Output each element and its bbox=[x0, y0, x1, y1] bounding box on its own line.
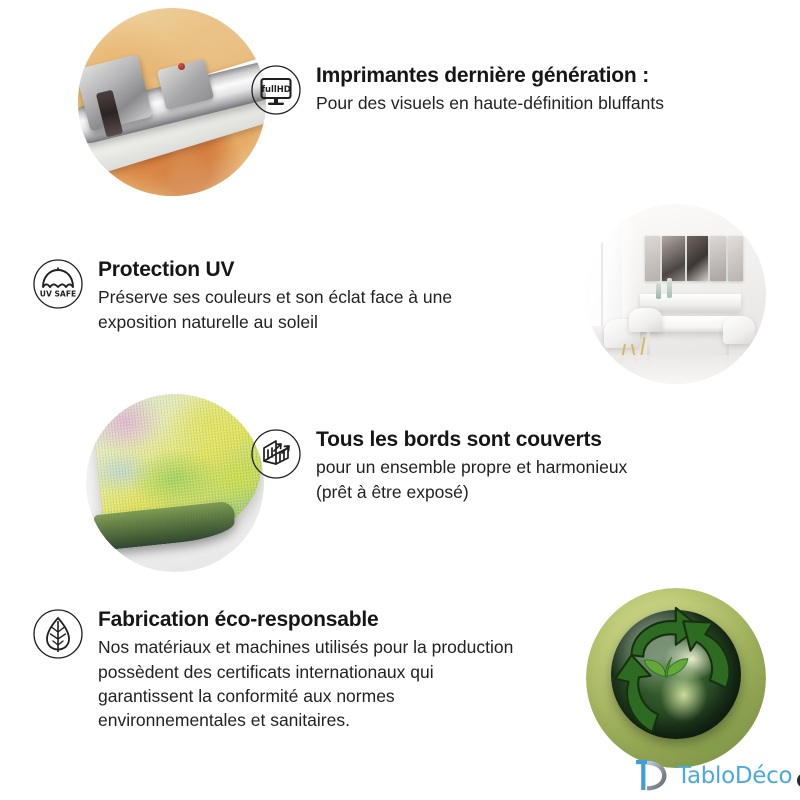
feature-uv-protection: UV SAFE Protection UV Préserve ses coule… bbox=[32, 256, 452, 334]
eco-recycling-globe-photo bbox=[586, 588, 766, 768]
room-window bbox=[586, 215, 622, 327]
fullhd-monitor-icon: fullHD bbox=[250, 64, 302, 116]
svg-text:fullHD: fullHD bbox=[261, 84, 290, 94]
decor-vase bbox=[656, 283, 661, 299]
feature-description: pour un ensemble propre et harmonieux (p… bbox=[316, 455, 627, 503]
feature-description: Nos matériaux et machines utilisés pour … bbox=[98, 635, 513, 732]
feature-covered-edges: Tous les bords sont couverts pour un ens… bbox=[250, 426, 627, 504]
printer-roller-world-map-photo bbox=[78, 8, 266, 196]
wrapped-canvas-edge-icon bbox=[250, 428, 302, 480]
feature-title: Tous les bords sont couverts bbox=[316, 428, 627, 452]
feature-eco-manufacturing: Fabrication éco-responsable Nos matériau… bbox=[32, 606, 513, 732]
room-floor bbox=[586, 355, 766, 384]
leaf-sprout-icon bbox=[640, 649, 690, 681]
feature-text-block: Fabrication éco-responsable Nos matériau… bbox=[98, 606, 513, 732]
decor-vase bbox=[667, 278, 672, 298]
feature-text-block: Imprimantes dernière génération : Pour d… bbox=[316, 62, 664, 116]
feature-title: Fabrication éco-responsable bbox=[98, 608, 513, 632]
multi-panel-wall-art bbox=[645, 236, 742, 281]
feature-description: Préserve ses couleurs et son éclat face … bbox=[98, 285, 452, 333]
dining-chair bbox=[629, 308, 661, 331]
dining-chair bbox=[723, 316, 755, 345]
tablodeco-monogram-icon bbox=[634, 758, 672, 794]
feature-text-block: Protection UV Préserve ses couleurs et s… bbox=[98, 256, 452, 334]
bright-dining-room-wall-art-photo bbox=[586, 204, 766, 384]
feature-print-quality: fullHD Imprimantes dernière génération :… bbox=[250, 62, 664, 116]
infographic-canvas: fullHD Imprimantes dernière génération :… bbox=[0, 0, 800, 800]
logo-wordmark: TabloDéco bbox=[677, 763, 792, 789]
uv-safe-umbrella-icon: UV SAFE bbox=[32, 258, 84, 310]
leaf-icon bbox=[32, 608, 84, 660]
canvas-corner-colourful-print-photo bbox=[86, 394, 264, 572]
feature-title: Protection UV bbox=[98, 258, 452, 282]
feature-description: Pour des visuels en haute-définition blu… bbox=[316, 91, 664, 115]
feature-title: Imprimantes dernière génération : bbox=[316, 64, 664, 88]
brand-logo[interactable]: TabloDéco ™ .fr bbox=[634, 756, 794, 796]
logo-wordmark-wrap: TabloDéco ™ .fr bbox=[677, 765, 792, 788]
printer-red-indicator bbox=[178, 63, 185, 70]
feature-text-block: Tous les bords sont couverts pour un ens… bbox=[316, 426, 627, 504]
svg-text:UV SAFE: UV SAFE bbox=[40, 290, 76, 299]
